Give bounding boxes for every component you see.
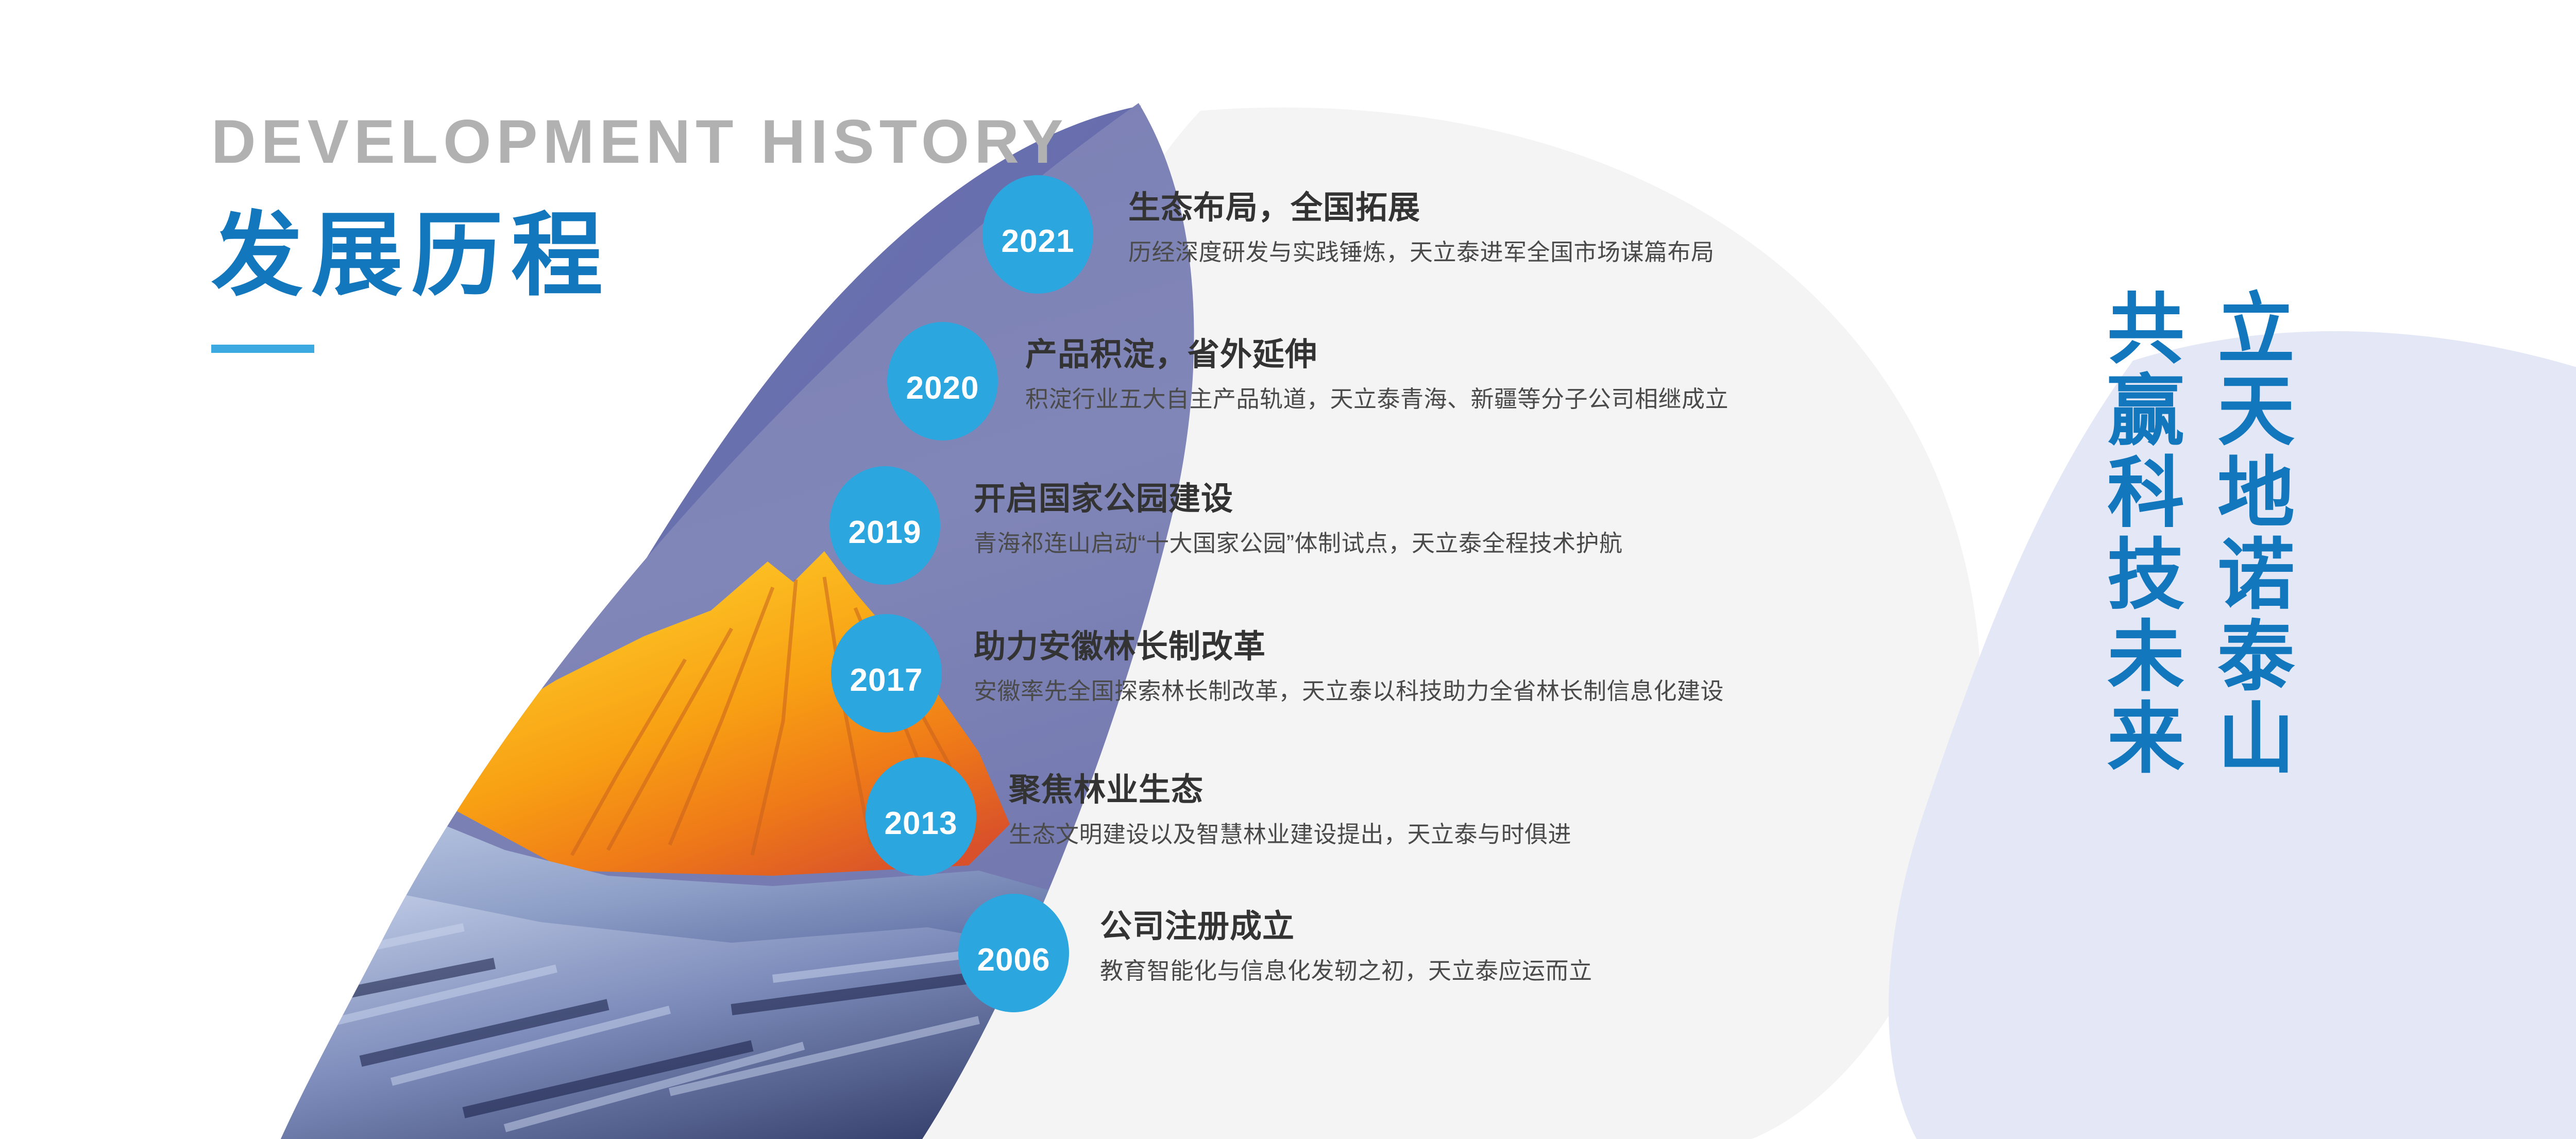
slogan-char: 诺 bbox=[2217, 534, 2295, 616]
slogan-char: 地 bbox=[2217, 452, 2295, 534]
heading-eyebrow: DEVELOPMENT HISTORY bbox=[211, 111, 1069, 173]
timeline-title: 产品积淀，省外延伸 bbox=[1025, 337, 1728, 372]
timeline-title: 生态布局，全国拓展 bbox=[1128, 191, 1715, 226]
heading-underline-rule bbox=[211, 345, 314, 353]
slogan-char: 山 bbox=[2217, 698, 2295, 780]
timeline-text-2019: 开启国家公园建设 青海祁连山启动“十大国家公园”体制试点，天立泰全程技术护航 bbox=[974, 482, 1622, 557]
timeline-text-2021: 生态布局，全国拓展 历经深度研发与实践锤炼，天立泰进军全国市场谋篇布局 bbox=[1128, 191, 1715, 266]
timeline-text-2013: 聚焦林业生态 生态文明建设以及智慧林业建设提出，天立泰与时俱进 bbox=[1009, 773, 1571, 848]
slogan-column-right: 立 天 地 诺 泰 山 bbox=[2217, 288, 2295, 780]
slogan-char: 泰 bbox=[2217, 616, 2295, 698]
slogan-char: 来 bbox=[2107, 698, 2184, 780]
timeline-text-2020: 产品积淀，省外延伸 积淀行业五大自主产品轨道，天立泰青海、新疆等分子公司相继成立 bbox=[1025, 337, 1728, 413]
slogan-char: 共 bbox=[2107, 288, 2184, 370]
timeline-desc: 安徽率先全国探索林长制改革，天立泰以科技助力全省林长制信息化建设 bbox=[974, 678, 1724, 705]
year-bubble-2013[interactable]: 2013 bbox=[866, 757, 976, 876]
timeline-desc: 历经深度研发与实践锤炼，天立泰进军全国市场谋篇布局 bbox=[1128, 239, 1715, 266]
timeline-desc: 积淀行业五大自主产品轨道，天立泰青海、新疆等分子公司相继成立 bbox=[1025, 386, 1728, 413]
slogan-char: 技 bbox=[2107, 534, 2184, 616]
year-label: 2021 bbox=[1002, 226, 1075, 258]
year-label: 2017 bbox=[850, 665, 923, 696]
slogan-char: 未 bbox=[2107, 616, 2184, 698]
page-heading: DEVELOPMENT HISTORY 发展历程 bbox=[211, 111, 1069, 353]
slogan-char: 科 bbox=[2107, 452, 2184, 534]
timeline-desc: 生态文明建设以及智慧林业建设提出，天立泰与时俱进 bbox=[1009, 821, 1571, 848]
year-bubble-2019[interactable]: 2019 bbox=[829, 466, 940, 585]
slide-canvas: DEVELOPMENT HISTORY 发展历程 2021 生态布局，全国拓展 … bbox=[0, 0, 2576, 1139]
year-label: 2020 bbox=[906, 372, 979, 404]
year-label: 2019 bbox=[849, 517, 922, 549]
timeline-title: 助力安徽林长制改革 bbox=[974, 630, 1724, 665]
timeline-text-2006: 公司注册成立 教育智能化与信息化发轫之初，天立泰应运而立 bbox=[1100, 909, 1592, 984]
timeline-title: 开启国家公园建设 bbox=[974, 482, 1622, 517]
timeline-title: 聚焦林业生态 bbox=[1009, 773, 1571, 808]
slogan-char: 立 bbox=[2217, 288, 2295, 370]
year-label: 2013 bbox=[885, 808, 958, 840]
timeline-desc: 教育智能化与信息化发轫之初，天立泰应运而立 bbox=[1100, 958, 1592, 984]
timeline-text-2017: 助力安徽林长制改革 安徽率先全国探索林长制改革，天立泰以科技助力全省林长制信息化… bbox=[974, 630, 1724, 705]
year-bubble-2021[interactable]: 2021 bbox=[982, 175, 1093, 294]
year-label: 2006 bbox=[977, 944, 1050, 976]
year-bubble-2020[interactable]: 2020 bbox=[887, 322, 998, 440]
timeline-title: 公司注册成立 bbox=[1100, 909, 1592, 944]
slogan-char: 赢 bbox=[2107, 370, 2184, 452]
year-bubble-2006[interactable]: 2006 bbox=[958, 894, 1069, 1012]
slogan-char: 天 bbox=[2217, 370, 2295, 452]
page-title: 发展历程 bbox=[211, 210, 1069, 301]
vertical-slogan: 共 赢 科 技 未 来 立 天 地 诺 泰 山 bbox=[2107, 288, 2295, 780]
year-bubble-2017[interactable]: 2017 bbox=[831, 614, 942, 733]
slogan-column-left: 共 赢 科 技 未 来 bbox=[2107, 288, 2184, 780]
timeline-desc: 青海祁连山启动“十大国家公园”体制试点，天立泰全程技术护航 bbox=[974, 530, 1622, 557]
